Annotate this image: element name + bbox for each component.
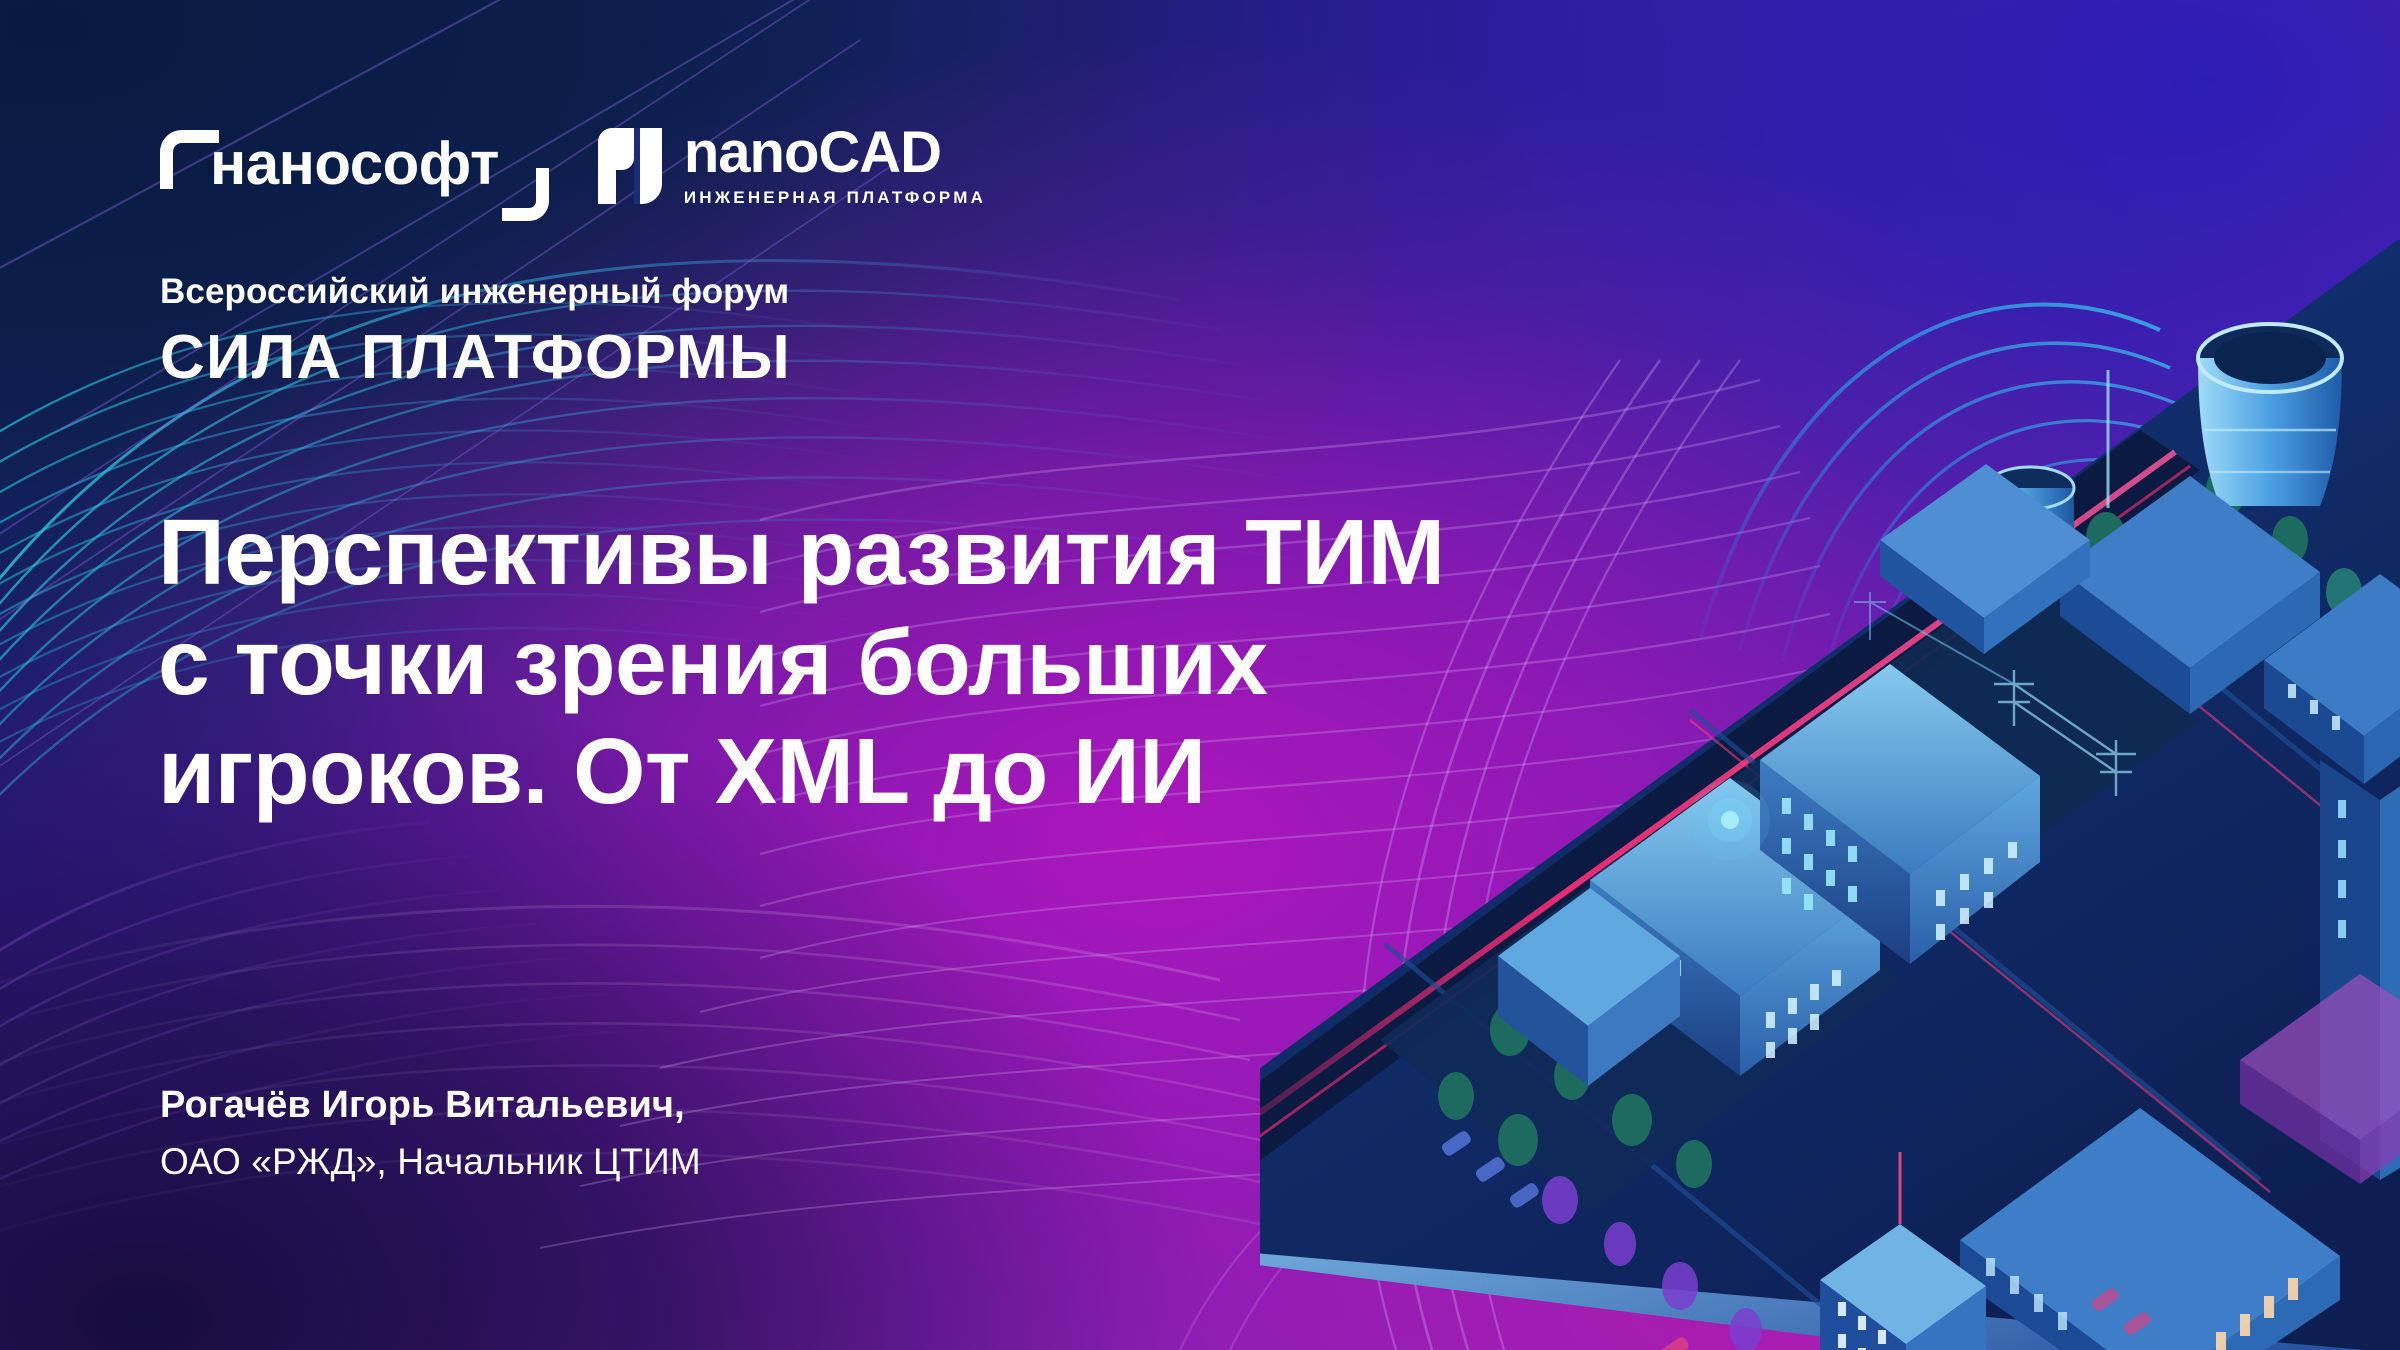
logo-row: нанософт nanoCAD ИНЖЕНЕРНАЯ ПЛАТФОРМА: [160, 122, 986, 208]
city-street-lamp: [1690, 780, 1770, 860]
slide-content: нанософт nanoCAD ИНЖЕНЕРНАЯ ПЛАТФОРМА Вс…: [0, 0, 1450, 1350]
presentation-slide: нанософт nanoCAD ИНЖЕНЕРНАЯ ПЛАТФОРМА Вс…: [0, 0, 2400, 1350]
quote-open-icon: [160, 130, 206, 176]
page-title: Перспективы развития ТИМ с точки зрения …: [158, 498, 1458, 827]
city-cooling-tower: [2198, 324, 2342, 506]
title-line-3: игроков. От XML до ИИ: [158, 717, 1458, 827]
nanocad-logo[interactable]: nanoCAD ИНЖЕНЕРНАЯ ПЛАТФОРМА: [594, 122, 986, 208]
title-line-1: Перспективы развития ТИМ: [158, 498, 1458, 608]
speaker-block: Рогачёв Игорь Витальевич, ОАО «РЖД», Нач…: [160, 1080, 701, 1187]
nanocad-mark-icon: [594, 128, 666, 204]
nanocad-wordmark: nanoCAD: [684, 120, 941, 185]
nanosoft-logo[interactable]: нанософт: [160, 122, 538, 194]
nanosoft-wordmark: нанософт: [210, 134, 499, 194]
title-line-2: с точки зрения больших: [158, 608, 1458, 718]
speaker-role: ОАО «РЖД», Начальник ЦТИМ: [160, 1137, 701, 1187]
event-name: СИЛА ПЛАТФОРМЫ: [160, 322, 791, 393]
event-kicker: Всероссийский инженерный форум: [160, 272, 789, 312]
quote-close-icon: [502, 168, 538, 208]
nanocad-tagline: ИНЖЕНЕРНАЯ ПЛАТФОРМА: [684, 188, 986, 208]
speaker-name: Рогачёв Игорь Витальевич,: [160, 1080, 701, 1131]
